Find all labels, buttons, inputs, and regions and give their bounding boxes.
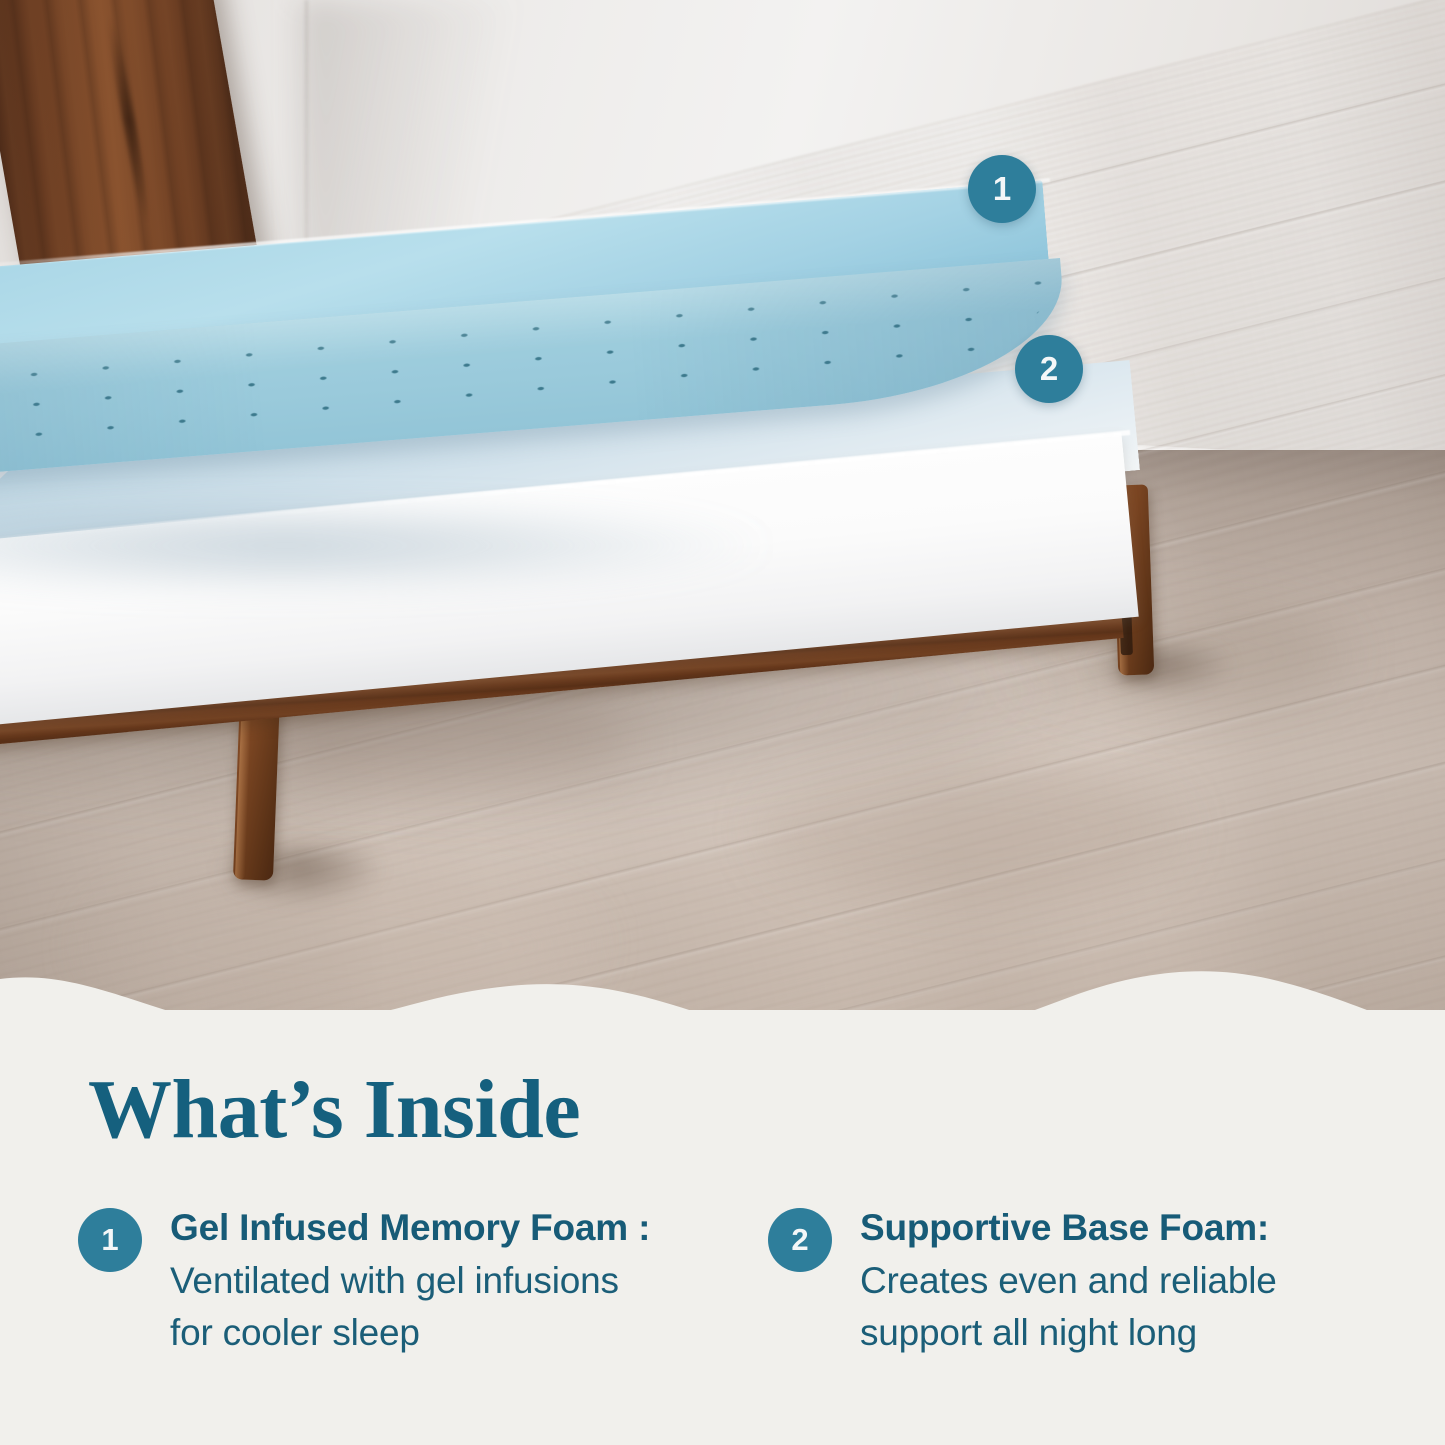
page-title: What’s Inside	[88, 1068, 580, 1152]
feature-title-1: Gel Infused Memory Foam :	[170, 1207, 650, 1248]
whats-inside-section: What’s Inside 1 Gel Infused Memory Foam …	[0, 1010, 1445, 1445]
feature-list: 1 Gel Infused Memory Foam : Ventilated w…	[78, 1202, 1378, 1360]
photo-callout-badge-2: 2	[1015, 335, 1083, 403]
feature-item-1: 1 Gel Infused Memory Foam : Ventilated w…	[78, 1202, 668, 1360]
gel-foam-shadow	[0, 505, 780, 595]
product-infographic: 1 2 What’s Inside 1 Gel Infused Memory F…	[0, 0, 1445, 1445]
leg-shadow	[1085, 645, 1235, 697]
photo-callout-badge-1: 1	[968, 155, 1036, 223]
feature-text-1: Gel Infused Memory Foam : Ventilated wit…	[170, 1202, 668, 1360]
feature-item-2: 2 Supportive Base Foam: Creates even and…	[768, 1202, 1358, 1360]
product-photo: 1 2	[0, 0, 1445, 1010]
feature-description-1: Ventilated with gel infusions for cooler…	[170, 1260, 619, 1354]
feature-badge-1: 1	[78, 1208, 142, 1272]
feature-badge-2: 2	[768, 1208, 832, 1272]
feature-text-2: Supportive Base Foam: Creates even and r…	[860, 1202, 1358, 1360]
feature-description-2: Creates even and reliable support all ni…	[860, 1260, 1277, 1354]
feature-title-2: Supportive Base Foam:	[860, 1207, 1269, 1248]
